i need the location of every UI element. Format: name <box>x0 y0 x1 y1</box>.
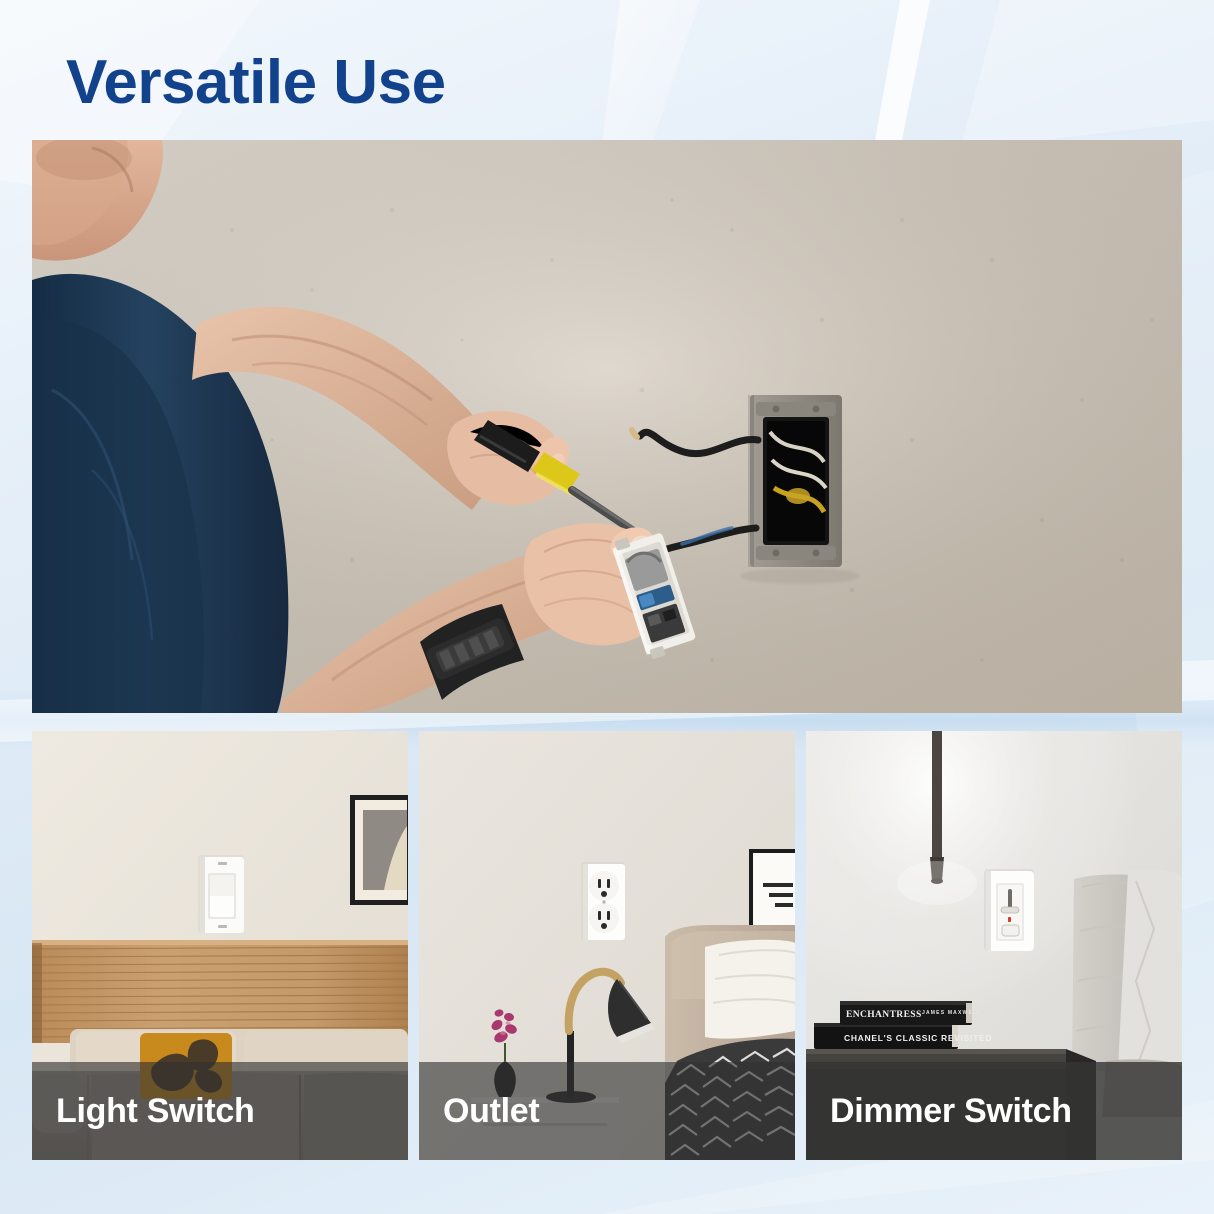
receptacle-top <box>589 871 619 901</box>
hero-image-electrician <box>32 140 1182 713</box>
book-title-bottom: CHANEL'S CLASSIC REVISITED <box>844 1033 992 1043</box>
caption-label-dimmer-switch: Dimmer Switch <box>806 1094 1072 1128</box>
outlet-device <box>581 862 625 940</box>
caption-label-light-switch: Light Switch <box>32 1094 255 1128</box>
caption-band-light-switch: Light Switch <box>32 1062 408 1160</box>
use-case-panel-row: Light Switch <box>32 731 1182 1160</box>
pillow <box>705 940 795 1039</box>
page-title: Versatile Use <box>66 52 446 114</box>
wall-artwork <box>350 795 408 905</box>
book-stack: CHANEL'S CLASSIC REVISITED ENCHANTRESS J… <box>814 1001 992 1049</box>
caption-band-outlet: Outlet <box>419 1062 795 1160</box>
use-case-panel-dimmer-switch[interactable]: CHANEL'S CLASSIC REVISITED ENCHANTRESS J… <box>806 731 1182 1160</box>
use-case-panel-light-switch[interactable]: Light Switch <box>32 731 408 1160</box>
hero-scene-illustration <box>32 140 1182 713</box>
book-author-line1: JAMES MAXWELL <box>922 1010 982 1016</box>
wood-slat-wall <box>32 940 408 1043</box>
wall-artwork <box>749 849 795 937</box>
use-case-panel-outlet[interactable]: Outlet <box>419 731 795 1160</box>
electrical-wall-box <box>748 395 842 567</box>
receptacle-bottom <box>589 903 619 933</box>
book-title-top: ENCHANTRESS <box>846 1010 922 1020</box>
caption-label-outlet: Outlet <box>419 1094 539 1128</box>
caption-band-dimmer-switch: Dimmer Switch <box>806 1062 1182 1160</box>
product-feature-graphic: Versatile Use <box>0 0 1214 1214</box>
dimmer-switch-device <box>984 869 1034 951</box>
light-switch-device <box>198 855 244 933</box>
